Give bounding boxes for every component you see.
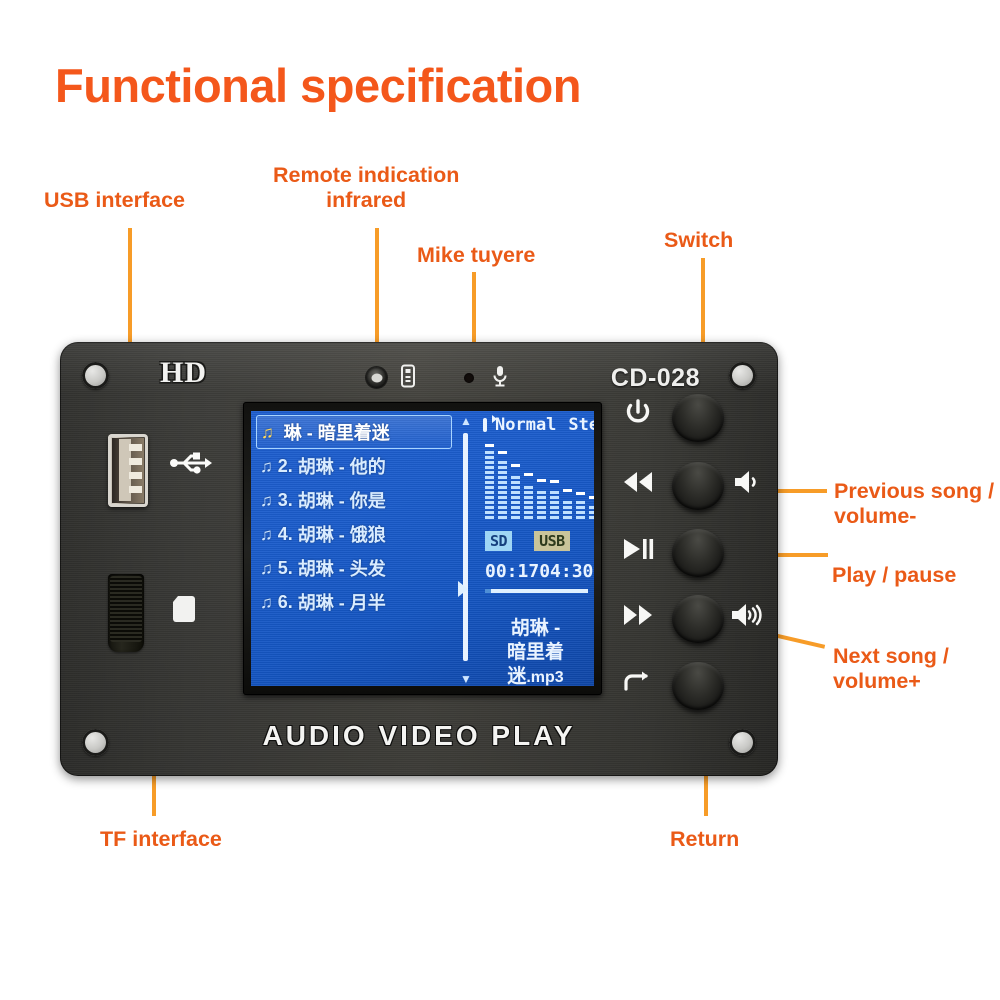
spectrum-bar — [589, 445, 594, 519]
spectrum-peak-cap — [589, 496, 594, 499]
annotation-return: Return — [670, 827, 739, 852]
spectrum-bar — [550, 445, 559, 519]
list-item[interactable]: ♫ 2. 胡琳 - 他的 — [256, 449, 452, 483]
spectrum-peak-cap — [537, 479, 546, 482]
power-icon — [625, 399, 651, 432]
usb-port[interactable] — [108, 434, 148, 507]
now-playing-line1: 胡琳 - — [479, 617, 592, 641]
scroll-up-arrow-icon[interactable]: ▲ — [460, 415, 472, 427]
sd-card-icon — [172, 595, 196, 628]
play-mode-label: Normal — [495, 415, 556, 435]
spectrum-bar — [498, 445, 507, 519]
music-note-icon: ♫ — [260, 560, 273, 577]
annotation-remote-infrared: Remote indication infrared — [273, 163, 459, 214]
playlist-item-text: 胡琳 - 饿狼 — [298, 521, 386, 547]
list-item[interactable]: ♫ 6. 胡琳 - 月半 — [256, 585, 452, 619]
spectrum-peak-cap — [563, 489, 572, 492]
now-playing-title: 胡琳 - 暗里着迷.mp3 — [479, 617, 592, 686]
return-icon — [621, 670, 653, 699]
playlist-item-index: 5. — [278, 558, 293, 579]
music-note-icon: ♫ — [261, 424, 274, 441]
playlist-scrollbar[interactable]: ▲ ▼ — [458, 415, 472, 685]
scrollbar-thumb[interactable] — [463, 433, 468, 661]
music-note-icon: ♫ — [260, 458, 273, 475]
diagram-canvas: Functional specification USB interface R… — [0, 0, 1000, 1000]
infrared-receiver — [366, 367, 387, 388]
bottom-brand-text: AUDIO VIDEO PLAY — [262, 720, 575, 752]
spectrum-peak-cap — [511, 464, 520, 467]
spectrum-bar — [537, 445, 546, 519]
spectrum-analyzer — [485, 445, 594, 519]
list-item[interactable]: ♫ 琳 - 暗里着迷 — [256, 415, 452, 449]
annotation-previous-song: Previous song / volume- — [834, 479, 994, 530]
decoder-board: HD CD-028 AUDIO VIDEO PLAY — [60, 342, 778, 776]
play-pause-button[interactable] — [672, 529, 724, 577]
annotation-play-pause: Play / pause — [832, 563, 956, 588]
spectrum-peak-cap — [550, 480, 559, 483]
playlist-item-text: 胡琳 - 月半 — [298, 589, 386, 615]
microphone-hole — [464, 373, 474, 383]
annotation-usb-interface: USB interface — [44, 188, 185, 213]
tf-card-slot[interactable] — [108, 574, 144, 652]
list-item[interactable]: ♫ 4. 胡琳 - 饿狼 — [256, 517, 452, 551]
playlist-item-text: 琳 - 暗里着迷 — [284, 419, 390, 445]
spectrum-peak-cap — [524, 473, 533, 476]
remote-icon — [398, 364, 418, 393]
playlist-item-text: 胡琳 - 头发 — [298, 555, 386, 581]
scroll-down-arrow-icon[interactable]: ▼ — [460, 673, 472, 685]
list-item[interactable]: ♫ 3. 胡琳 - 你是 — [256, 483, 452, 517]
playlist-item-text: 胡琳 - 你是 — [298, 487, 386, 513]
spectrum-bar — [524, 445, 533, 519]
next-button[interactable] — [672, 595, 724, 643]
lcd-right-pane: Normal Stereo SD USB 00:17 04:30 — [479, 413, 592, 686]
microphone-icon — [490, 364, 510, 393]
music-note-icon: ♫ — [260, 526, 273, 543]
annotation-switch: Switch — [664, 228, 733, 253]
spectrum-bar — [511, 445, 520, 519]
previous-button[interactable] — [672, 462, 724, 510]
music-note-icon: ♫ — [260, 594, 273, 611]
spectrum-peak-cap — [576, 492, 585, 495]
annotation-tf-interface: TF interface — [100, 827, 222, 852]
hd-logo: HD — [160, 356, 207, 390]
spectrum-peak-cap — [498, 451, 507, 454]
list-item[interactable]: ♫ 5. 胡琳 - 头发 — [256, 551, 452, 585]
spectrum-bar — [576, 445, 585, 519]
time-display: 00:17 04:30 — [485, 561, 586, 582]
spectrum-bar — [485, 445, 494, 519]
spectrum-peak-cap — [485, 444, 494, 447]
screw-hole-bottom-right — [729, 729, 756, 756]
page-title: Functional specification — [55, 58, 581, 113]
volume-down-icon — [733, 469, 763, 500]
screw-hole-top-left — [82, 362, 109, 389]
progress-bar[interactable] — [485, 589, 588, 593]
power-button[interactable] — [672, 394, 724, 442]
playlist-item-index: 2. — [278, 456, 293, 477]
playlist[interactable]: ♫ 琳 - 暗里着迷 ♫ 2. 胡琳 - 他的 ♫ 3. 胡琳 - 你是 — [256, 415, 452, 619]
total-time: 04:30 — [539, 561, 593, 582]
now-playing-caret-icon — [458, 581, 468, 597]
lcd-screen: ♫ 琳 - 暗里着迷 ♫ 2. 胡琳 - 他的 ♫ 3. 胡琳 - 你是 — [251, 411, 594, 686]
next-track-icon — [621, 603, 655, 632]
lcd-bezel: ♫ 琳 - 暗里着迷 ♫ 2. 胡琳 - 他的 ♫ 3. 胡琳 - 你是 — [243, 402, 602, 695]
screw-hole-bottom-left — [82, 729, 109, 756]
annotation-next-song: Next song / volume+ — [833, 644, 949, 695]
model-name: CD-028 — [611, 364, 700, 393]
playlist-item-index: 4. — [278, 524, 293, 545]
progress-bar-fill — [485, 589, 491, 593]
screw-hole-top-right — [729, 362, 756, 389]
playlist-item-index: 6. — [278, 592, 293, 613]
media-indicators: SD USB — [485, 531, 570, 551]
play-pause-icon — [621, 537, 655, 566]
now-playing-extension: .mp3 — [526, 669, 563, 686]
elapsed-time: 00:17 — [485, 561, 539, 582]
usb-icon — [170, 450, 212, 481]
return-button[interactable] — [672, 662, 724, 710]
usb-indicator: USB — [534, 531, 570, 551]
music-note-icon: ♫ — [260, 492, 273, 509]
playlist-item-text: 胡琳 - 他的 — [298, 453, 386, 479]
volume-up-icon — [730, 601, 764, 634]
sd-indicator: SD — [485, 531, 512, 551]
annotation-mike-tuyere: Mike tuyere — [417, 243, 535, 268]
channel-label: Stereo — [568, 415, 594, 435]
spectrum-bar — [563, 445, 572, 519]
lcd-status-bar: Normal Stereo — [479, 413, 592, 437]
previous-track-icon — [621, 470, 655, 499]
playlist-item-index: 3. — [278, 490, 293, 511]
